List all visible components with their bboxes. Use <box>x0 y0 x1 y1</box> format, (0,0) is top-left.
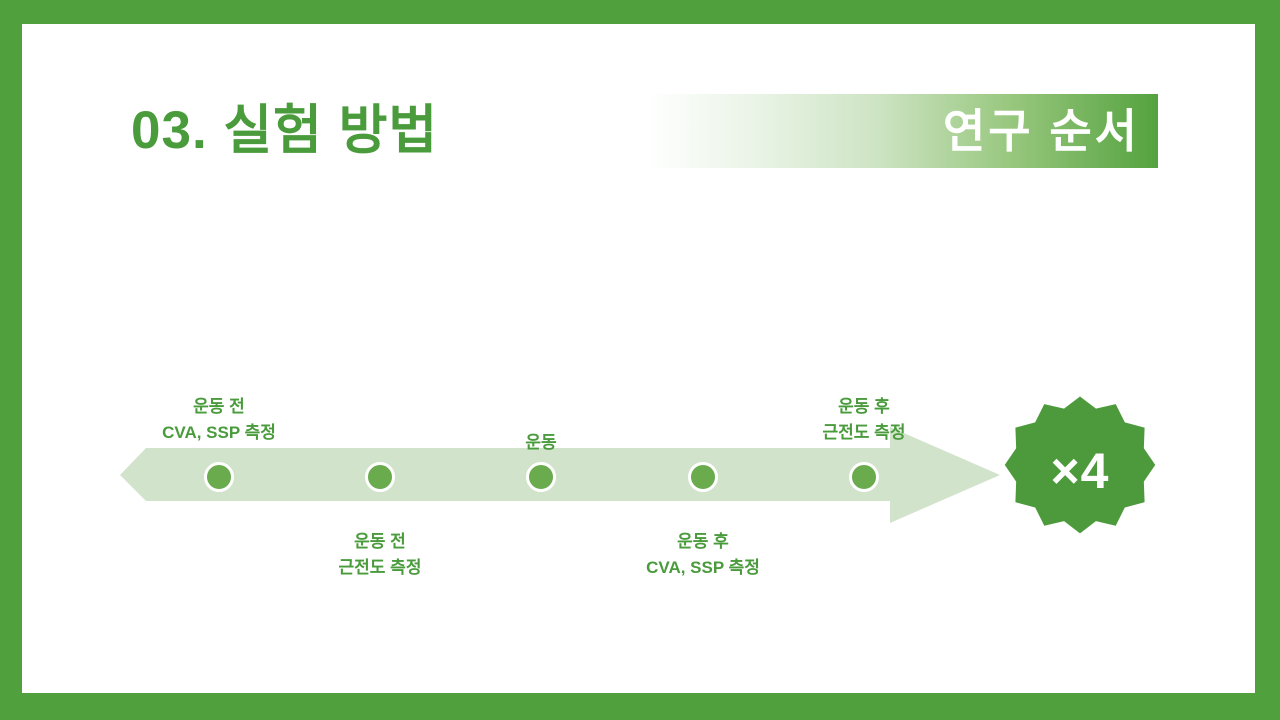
process-timeline: 운동 전 CVA, SSP 측정 운동 운동 후 근전도 측정 운동 전 근전도… <box>22 24 1256 693</box>
timeline-label-line1: 운동 후 <box>646 529 760 555</box>
timeline-node <box>526 462 556 492</box>
slide-root: 03. 실험 방법 연구 순서 운동 전 CVA, SSP 측정 운동 <box>0 0 1280 720</box>
timeline-node <box>688 462 718 492</box>
timeline-label-line1: 운동 전 <box>162 394 276 420</box>
timeline-node <box>849 462 879 492</box>
timeline-label-line2: 근전도 측정 <box>339 555 422 581</box>
timeline-node <box>204 462 234 492</box>
timeline-node <box>365 462 395 492</box>
timeline-label-line2: CVA, SSP 측정 <box>646 555 760 581</box>
timeline-label-line1: 운동 후 <box>823 394 906 420</box>
slide-content-area: 03. 실험 방법 연구 순서 운동 전 CVA, SSP 측정 운동 <box>22 24 1255 693</box>
timeline-label: 운동 전 CVA, SSP 측정 <box>162 394 276 447</box>
timeline-label: 운동 후 CVA, SSP 측정 <box>646 529 760 582</box>
timeline-label: 운동 전 근전도 측정 <box>339 529 422 582</box>
timeline-label: 운동 후 근전도 측정 <box>823 394 906 447</box>
repeat-badge-label: ×4 <box>1004 395 1156 547</box>
timeline-label-line1: 운동 전 <box>339 529 422 555</box>
timeline-label: 운동 <box>525 430 556 456</box>
timeline-label-line2: CVA, SSP 측정 <box>162 420 276 446</box>
timeline-label-line2: 근전도 측정 <box>823 420 906 446</box>
timeline-label-line1: 운동 <box>525 430 556 456</box>
